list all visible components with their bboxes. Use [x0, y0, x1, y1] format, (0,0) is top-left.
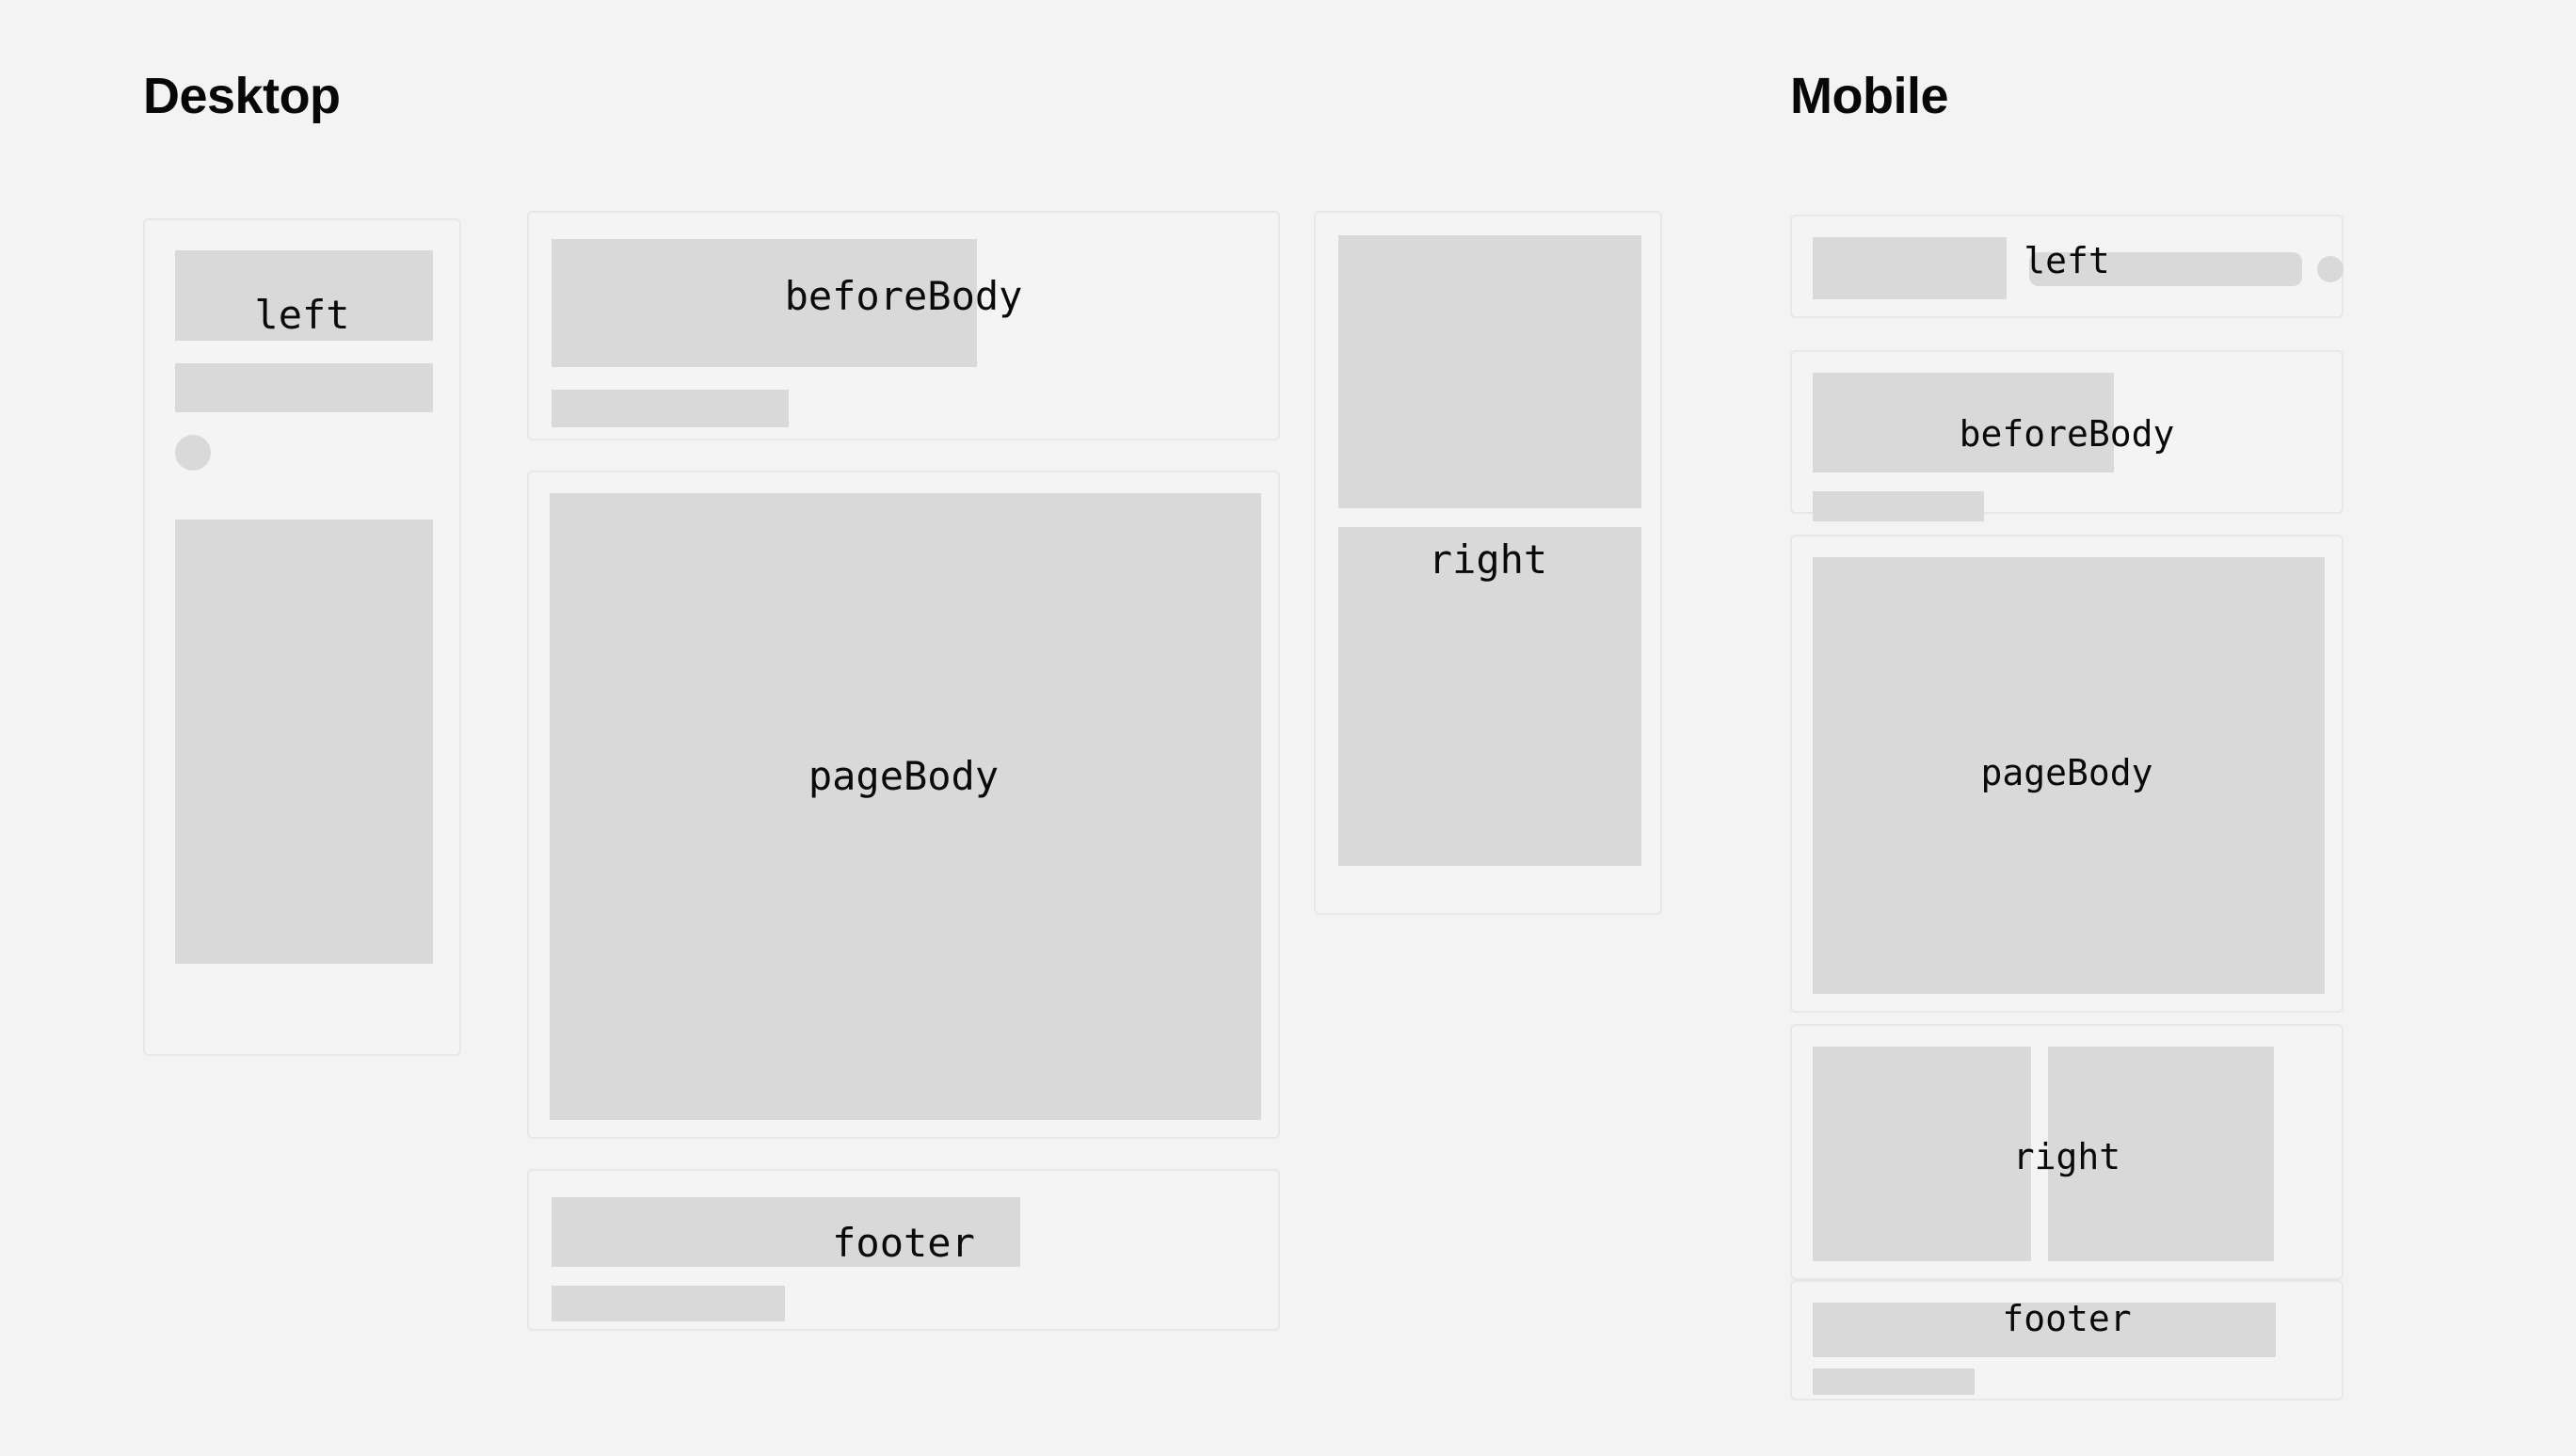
mobile-right-slot-card[interactable]: [1790, 1024, 2344, 1280]
placeholder-avatar-circle: [2317, 256, 2344, 282]
placeholder-block: [1813, 373, 2114, 472]
placeholder-block: [1813, 1303, 2276, 1357]
placeholder-block: [552, 239, 977, 367]
placeholder-block: [552, 1286, 785, 1321]
layout-preview-canvas: Desktop left beforeBody pageBody footer …: [0, 0, 2576, 1456]
desktop-pagebody-slot-card[interactable]: [527, 471, 1280, 1139]
placeholder-avatar-circle: [175, 435, 211, 471]
placeholder-block: [1813, 237, 2007, 299]
placeholder-block: [552, 1197, 1020, 1267]
placeholder-block: [552, 390, 789, 427]
desktop-left-slot-card[interactable]: [143, 218, 461, 1056]
mobile-footer-slot-card[interactable]: [1790, 1280, 2344, 1400]
mobile-beforebody-slot-card[interactable]: [1790, 350, 2344, 514]
placeholder-bar: [2029, 252, 2302, 286]
desktop-beforebody-slot-card[interactable]: [527, 211, 1280, 440]
mobile-left-slot-card[interactable]: [1790, 215, 2344, 318]
placeholder-block: [175, 250, 433, 341]
placeholder-block: [1338, 235, 1641, 508]
placeholder-block: [1813, 1368, 1975, 1395]
desktop-right-slot-card[interactable]: [1314, 211, 1662, 915]
placeholder-block: [1813, 491, 1984, 521]
mobile-section-title: Mobile: [1790, 68, 1948, 124]
placeholder-block: [1813, 1047, 2031, 1261]
desktop-footer-slot-card[interactable]: [527, 1169, 1280, 1331]
placeholder-block: [1338, 527, 1641, 866]
desktop-section-title: Desktop: [143, 68, 341, 124]
placeholder-block: [2048, 1047, 2274, 1261]
placeholder-block: [175, 363, 433, 412]
mobile-pagebody-slot-card[interactable]: [1790, 535, 2344, 1013]
placeholder-block: [175, 520, 433, 964]
placeholder-block: [1813, 557, 2325, 994]
placeholder-block: [550, 493, 1261, 1120]
